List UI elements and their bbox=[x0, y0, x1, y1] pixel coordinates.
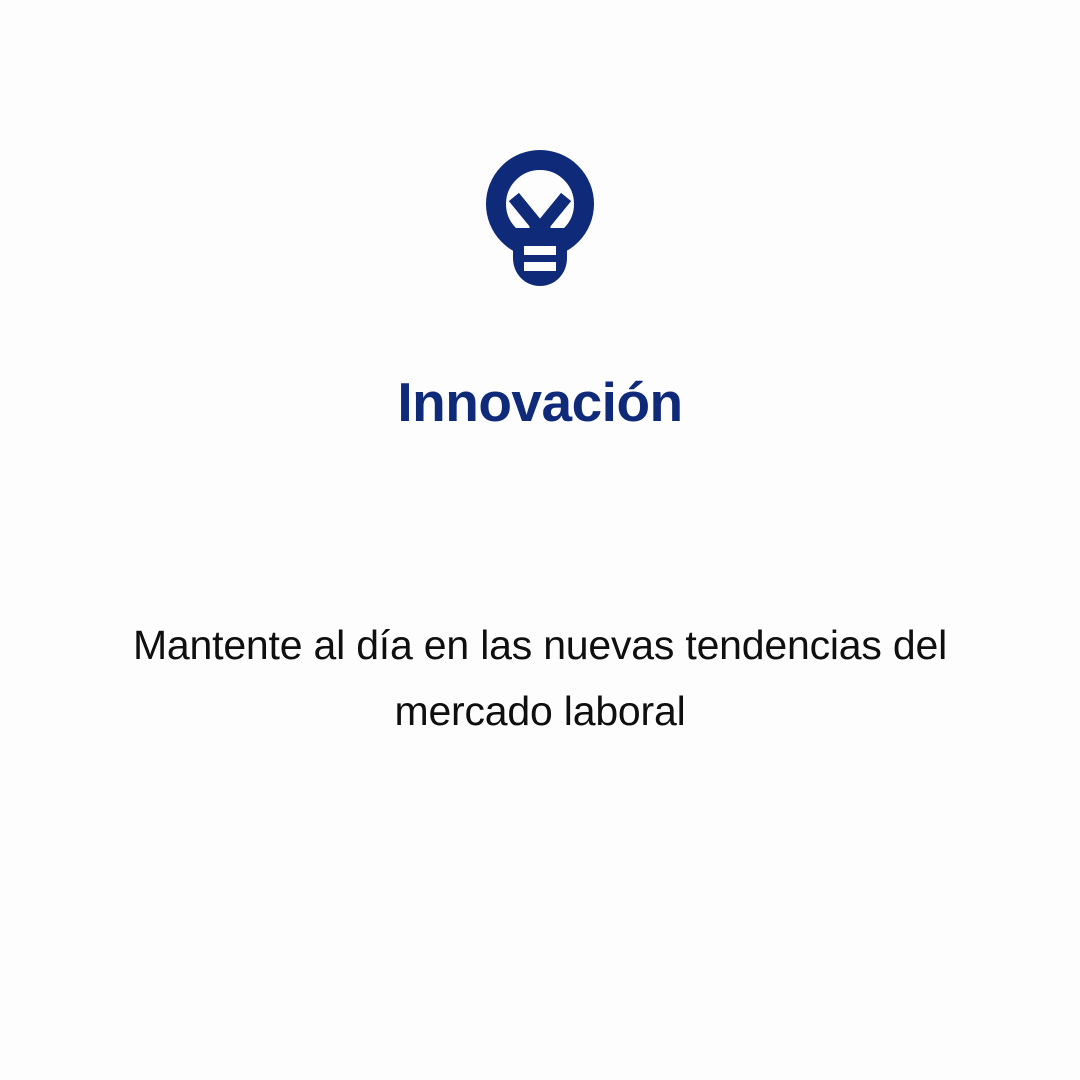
lightbulb-icon-container bbox=[0, 150, 1080, 292]
page-title: Innovación bbox=[0, 372, 1080, 434]
innovation-card: Innovación Mantente al día en las nuevas… bbox=[0, 0, 1080, 1080]
lightbulb-icon bbox=[486, 150, 594, 290]
description-text: Mantente al día en las nuevas tendencias… bbox=[50, 612, 1030, 745]
